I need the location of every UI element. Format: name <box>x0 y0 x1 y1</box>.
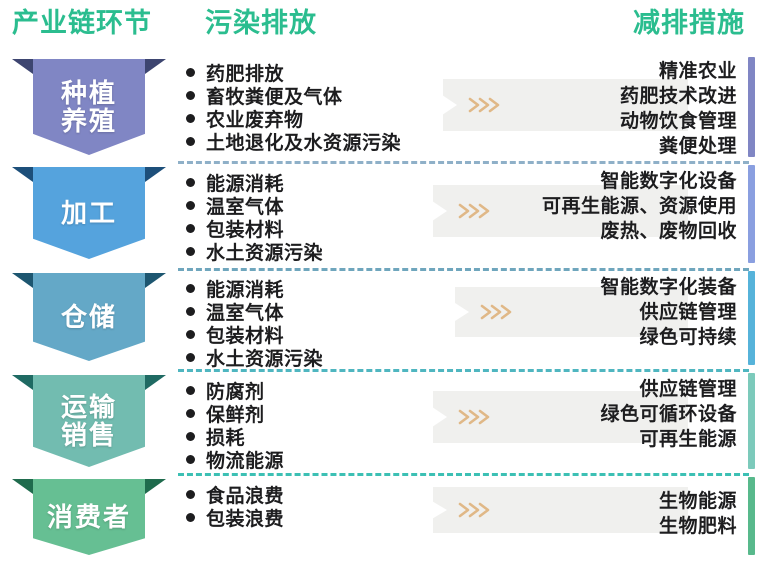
stage-label-line: 仓储 <box>61 303 117 331</box>
stage-banner-3[interactable]: 运输销售 <box>33 375 145 467</box>
header: 产业链环节 污染排放 减排措施 <box>0 0 781 54</box>
bullet-dot-icon <box>186 68 195 77</box>
bullet-dot-icon <box>186 201 195 210</box>
triple-chevron-right-icon <box>457 407 493 427</box>
pollution-item: 畜牧粪便及气体 <box>186 84 401 107</box>
infographic-canvas: 产业链环节 污染排放 减排措施 种植养殖药肥排放畜牧粪便及气体农业废弃物土地退化… <box>0 0 781 563</box>
pollution-list: 食品浪费包装浪费 <box>186 483 284 529</box>
measures-list: 供应链管理绿色可循环设备可再生能源 <box>600 377 737 452</box>
pollution-item: 农业废弃物 <box>186 107 401 130</box>
pollution-item-label: 包装浪费 <box>206 504 284 531</box>
stage-banner-1[interactable]: 加工 <box>33 167 145 259</box>
pollution-item: 水土资源污染 <box>186 346 323 369</box>
pollution-item: 防腐剂 <box>186 379 284 402</box>
bullet-dot-icon <box>186 330 195 339</box>
measure-item: 绿色可循环设备 <box>600 402 737 427</box>
bullet-dot-icon <box>186 307 195 316</box>
banner-fold-right-icon <box>145 479 166 494</box>
pollution-list: 能源消耗温室气体包装材料水土资源污染 <box>186 277 323 369</box>
banner-fold-right-icon <box>145 273 166 288</box>
bullet-dot-icon <box>186 137 195 146</box>
pollution-item-label: 土地退化及水资源污染 <box>206 128 401 155</box>
banner-fold-left-icon <box>12 479 33 494</box>
triple-chevron-right-icon <box>457 201 493 221</box>
stage-label-line: 种植 <box>61 79 117 107</box>
measure-item: 绿色可持续 <box>600 325 737 350</box>
row-separator <box>178 161 749 164</box>
measures-list: 智能数字化设备可再生能源、资源使用废热、废物回收 <box>542 169 737 244</box>
measures-list: 生物能源生物肥料 <box>659 489 737 539</box>
row-accent-bar <box>748 373 755 469</box>
bullet-dot-icon <box>186 432 195 441</box>
pollution-item: 温室气体 <box>186 300 323 323</box>
pollution-item-label: 水土资源污染 <box>206 344 323 371</box>
measure-item: 动物饮食管理 <box>620 109 737 134</box>
measure-item: 智能数字化设备 <box>542 169 737 194</box>
banner-fold-right-icon <box>145 375 166 390</box>
bullet-dot-icon <box>186 386 195 395</box>
bullet-dot-icon <box>186 178 195 187</box>
row-accent-bar <box>748 271 755 365</box>
bullet-dot-icon <box>186 224 195 233</box>
bullet-dot-icon <box>186 513 195 522</box>
pollution-item-label: 物流能源 <box>206 446 284 473</box>
stage-banner-0[interactable]: 种植养殖 <box>33 59 145 155</box>
stage-label-line: 消费者 <box>47 503 131 531</box>
bullet-dot-icon <box>186 455 195 464</box>
row-planting-breeding: 种植养殖药肥排放畜牧粪便及气体农业废弃物土地退化及水资源污染精准农业药肥技术改进… <box>0 55 781 162</box>
banner-fold-left-icon <box>12 273 33 288</box>
pollution-item: 食品浪费 <box>186 483 284 506</box>
pollution-item: 水土资源污染 <box>186 240 323 263</box>
header-title-measures: 减排措施 <box>633 0 745 50</box>
pollution-item: 损耗 <box>186 425 284 448</box>
measure-item: 生物能源 <box>659 489 737 514</box>
pollution-list: 防腐剂保鲜剂损耗物流能源 <box>186 379 284 471</box>
pollution-item: 物流能源 <box>186 448 284 471</box>
bullet-dot-icon <box>186 91 195 100</box>
banner-fold-left-icon <box>12 375 33 390</box>
row-warehousing: 仓储能源消耗温室气体包装材料水土资源污染智能数字化装备供应链管理绿色可持续 <box>0 271 781 372</box>
measure-item: 可再生能源、资源使用 <box>542 194 737 219</box>
stage-banner-2[interactable]: 仓储 <box>33 273 145 361</box>
bullet-dot-icon <box>186 409 195 418</box>
bullet-dot-icon <box>186 114 195 123</box>
banner-fold-left-icon <box>12 167 33 182</box>
measure-item: 废热、废物回收 <box>542 219 737 244</box>
row-processing: 加工能源消耗温室气体包装材料水土资源污染智能数字化设备可再生能源、资源使用废热、… <box>0 165 781 270</box>
pollution-item: 土地退化及水资源污染 <box>186 130 401 153</box>
pollution-list: 药肥排放畜牧粪便及气体农业废弃物土地退化及水资源污染 <box>186 61 401 153</box>
row-accent-bar <box>748 165 755 263</box>
bullet-dot-icon <box>186 353 195 362</box>
pollution-item: 药肥排放 <box>186 61 401 84</box>
pollution-item: 包装材料 <box>186 323 323 346</box>
stage-banner-4[interactable]: 消费者 <box>33 479 145 555</box>
flow-connector <box>433 487 688 533</box>
row-accent-bar <box>748 477 755 555</box>
header-title-chain: 产业链环节 <box>12 0 152 50</box>
pollution-item: 包装浪费 <box>186 506 284 529</box>
measure-item: 供应链管理 <box>600 300 737 325</box>
banner-fold-right-icon <box>145 59 166 74</box>
measure-item: 药肥技术改进 <box>620 84 737 109</box>
pollution-item: 保鲜剂 <box>186 402 284 425</box>
pollution-item-label: 水土资源污染 <box>206 238 323 265</box>
stage-label-line: 运输 <box>61 393 117 421</box>
measures-list: 精准农业药肥技术改进动物饮食管理粪便处理 <box>620 59 737 159</box>
pollution-list: 能源消耗温室气体包装材料水土资源污染 <box>186 171 323 263</box>
measure-item: 生物肥料 <box>659 514 737 539</box>
bullet-dot-icon <box>186 247 195 256</box>
pollution-item: 温室气体 <box>186 194 323 217</box>
pollution-item: 能源消耗 <box>186 277 323 300</box>
measure-item: 供应链管理 <box>600 377 737 402</box>
stage-label-line: 加工 <box>61 199 117 227</box>
pollution-item: 包装材料 <box>186 217 323 240</box>
triple-chevron-right-icon <box>457 500 493 520</box>
measures-list: 智能数字化装备供应链管理绿色可持续 <box>600 275 737 350</box>
stage-label-line: 销售 <box>61 421 117 449</box>
row-separator <box>178 473 749 476</box>
banner-fold-right-icon <box>145 167 166 182</box>
measure-item: 可再生能源 <box>600 427 737 452</box>
stage-label-line: 养殖 <box>61 107 117 135</box>
pollution-item: 能源消耗 <box>186 171 323 194</box>
triple-chevron-right-icon <box>479 302 515 322</box>
row-transport-sales: 运输销售防腐剂保鲜剂损耗物流能源供应链管理绿色可循环设备可再生能源 <box>0 373 781 476</box>
measure-item: 粪便处理 <box>620 134 737 159</box>
row-consumer: 消费者食品浪费包装浪费生物能源生物肥料 <box>0 477 781 563</box>
banner-fold-left-icon <box>12 59 33 74</box>
row-accent-bar <box>748 57 755 157</box>
bullet-dot-icon <box>186 284 195 293</box>
measure-item: 智能数字化装备 <box>600 275 737 300</box>
bullet-dot-icon <box>186 490 195 499</box>
measure-item: 精准农业 <box>620 59 737 84</box>
triple-chevron-right-icon <box>467 95 503 115</box>
header-title-pollution: 污染排放 <box>205 0 317 50</box>
